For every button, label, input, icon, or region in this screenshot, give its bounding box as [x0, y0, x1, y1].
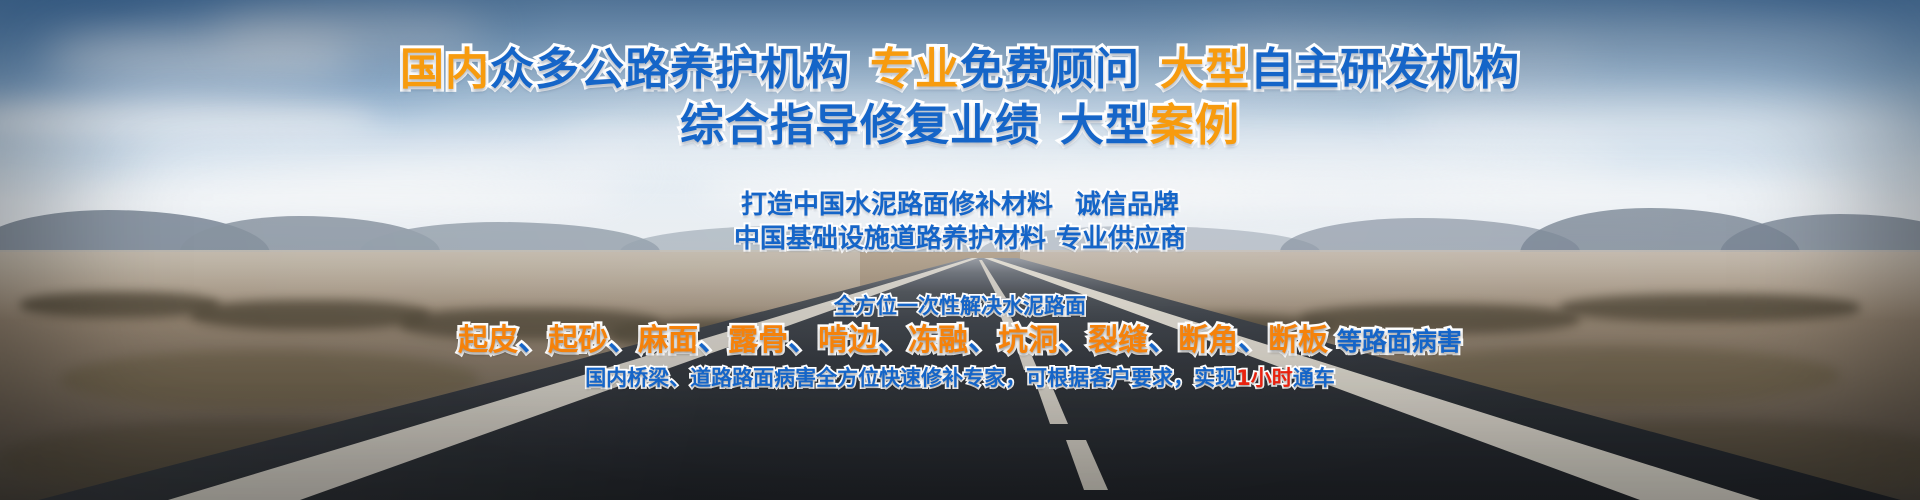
mid-text-block: 打造中国水泥路面修补材料诚信品牌 中国基础设施道路养护材料专业供应商 — [0, 188, 1920, 256]
disease-separator: 、 — [968, 323, 998, 358]
disease-separator: 、 — [1058, 323, 1088, 358]
mid-line-1-a: 打造中国水泥路面修补材料 — [741, 190, 1053, 220]
headline-line-1: 国内众多公路养护机构专业免费顾问大型自主研发机构 — [0, 42, 1920, 98]
footer-highlight: 1小时 — [1236, 366, 1293, 390]
mid-line-2: 中国基础设施道路养护材料专业供应商 — [0, 222, 1920, 256]
mid-line-2-b: 专业供应商 — [1056, 224, 1186, 254]
headline-line-2: 综合指导修复业绩大型案例 — [0, 98, 1920, 154]
disease-list: 起皮、起砂、麻面、露骨、啃边、冻融、坑洞、裂缝、断角、断板 等路面病害 — [0, 320, 1920, 363]
footer-pre: 国内桥梁、道路路面病害全方位快速修补专家，可根据客户要求，实现 — [585, 366, 1236, 390]
disease-term: 冻融 — [908, 323, 968, 358]
disease-term: 麻面 — [638, 323, 698, 358]
footer-post: 通车 — [1293, 366, 1335, 390]
headline-seg-zonghe: 综合指导修复业绩 — [680, 100, 1040, 151]
disease-term: 坑洞 — [998, 323, 1058, 358]
headline-seg-zhuanye: 专业 — [870, 44, 960, 95]
disease-separator: 、 — [698, 323, 728, 358]
disease-separator: 、 — [518, 323, 548, 358]
headline-seg-mianfei: 免费顾问 — [960, 44, 1140, 95]
disease-separator: 、 — [1238, 323, 1268, 358]
bottom-text-block: 全方位一次性解决水泥路面 起皮、起砂、麻面、露骨、啃边、冻融、坑洞、裂缝、断角、… — [0, 292, 1920, 393]
disease-term: 裂缝 — [1088, 323, 1148, 358]
bottom-footer: 国内桥梁、道路路面病害全方位快速修补专家，可根据客户要求，实现1小时通车 — [0, 363, 1920, 393]
disease-term: 露骨 — [728, 323, 788, 358]
disease-separator: 、 — [788, 323, 818, 358]
banner-text-layer: 国内众多公路养护机构专业免费顾问大型自主研发机构 综合指导修复业绩大型案例 打造… — [0, 0, 1920, 500]
mid-line-1: 打造中国水泥路面修补材料诚信品牌 — [0, 188, 1920, 222]
disease-term: 断板 — [1268, 323, 1328, 358]
headline-seg-anli: 案例 — [1150, 100, 1240, 151]
mid-line-2-a: 中国基础设施道路养护材料 — [734, 224, 1046, 254]
headline-seg-zhongduo: 众多公路养护机构 — [490, 44, 850, 95]
disease-term: 起砂 — [548, 323, 608, 358]
disease-term: 起皮 — [458, 323, 518, 358]
disease-separator: 、 — [1148, 323, 1178, 358]
disease-separator: 、 — [878, 323, 908, 358]
bottom-headline: 全方位一次性解决水泥路面 — [0, 292, 1920, 320]
promo-banner: 国内众多公路养护机构专业免费顾问大型自主研发机构 综合指导修复业绩大型案例 打造… — [0, 0, 1920, 500]
disease-term: 断角 — [1178, 323, 1238, 358]
headline-seg-guonei: 国内 — [400, 44, 490, 95]
disease-tail: 等路面病害 — [1328, 327, 1462, 356]
mid-line-1-b: 诚信品牌 — [1075, 190, 1179, 220]
disease-separator: 、 — [608, 323, 638, 358]
headline-seg-daxing: 大型 — [1160, 44, 1250, 95]
disease-term: 啃边 — [818, 323, 878, 358]
headline-seg-daxing-2: 大型 — [1060, 100, 1150, 151]
headline-seg-zizhu: 自主研发机构 — [1250, 44, 1520, 95]
